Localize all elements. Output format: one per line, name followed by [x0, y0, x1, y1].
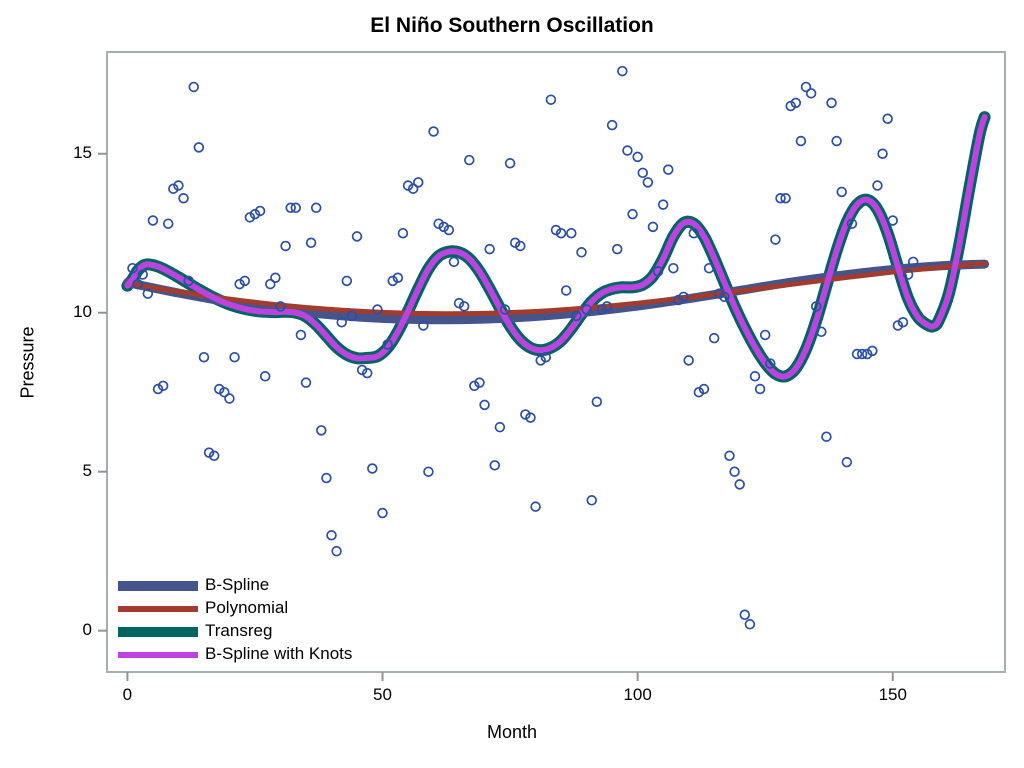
x-tick-label: 150	[853, 685, 933, 705]
x-tick-label: 50	[343, 685, 423, 705]
legend-label: Transreg	[205, 621, 272, 641]
chart-figure: El Niño Southern Oscillation Pressure Mo…	[0, 0, 1024, 768]
plot-area	[0, 0, 1024, 768]
x-tick-label: 0	[87, 685, 167, 705]
y-tick-label: 10	[12, 302, 92, 322]
y-tick-label: 5	[12, 461, 92, 481]
legend-label: Polynomial	[205, 598, 288, 618]
y-tick-label: 0	[12, 620, 92, 640]
y-tick-label: 15	[12, 143, 92, 163]
x-tick-label: 100	[598, 685, 678, 705]
legend-label: B-Spline with Knots	[205, 644, 352, 664]
legend-label: B-Spline	[205, 575, 269, 595]
